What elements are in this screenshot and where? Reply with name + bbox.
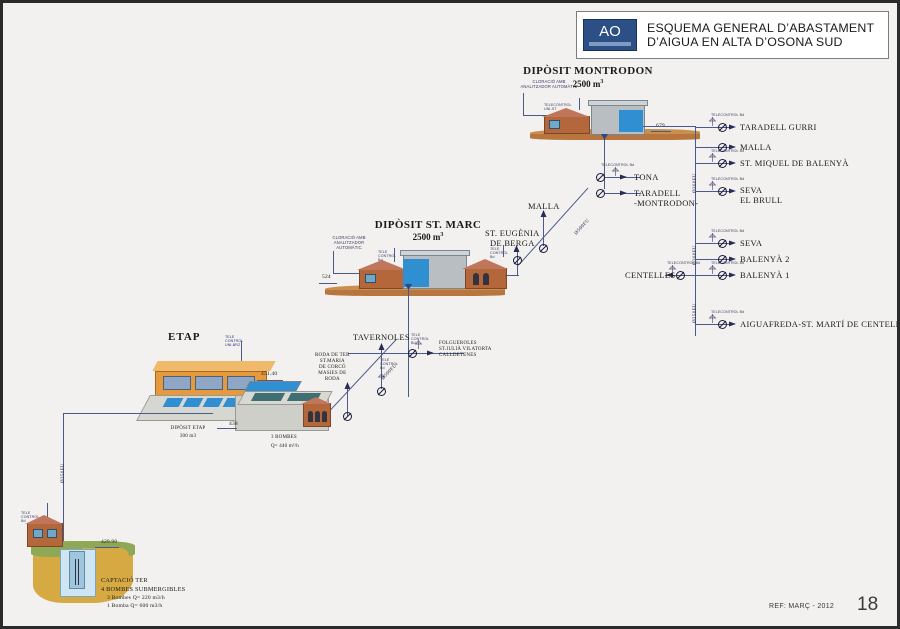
arrow-icon-taradell-montrodon <box>620 189 629 197</box>
montrodon-inlet-marker <box>600 131 609 140</box>
etap-pump-1 <box>308 411 313 422</box>
arrow-icon-aiguafreda <box>729 320 738 328</box>
etap-deposit-label: DIPÒSIT ETAP <box>153 426 223 432</box>
valve-icon-taradell-montrodon[interactable] <box>595 188 606 199</box>
stmarc-chlorination-label: CLORACIÓ AMB ANALITZADOR AUTOMÀTIC <box>319 235 379 250</box>
telecontrol-label-taradell-gurri: TELECONTROL Bd <box>711 113 744 117</box>
captacio-pumps-detail-1: 3 Bombes Q= 220 m3/h <box>107 595 165 601</box>
stmarc-downpipe <box>408 287 409 397</box>
stmarc-capacity-exp: 3 <box>440 232 443 238</box>
montrodon-tank-water <box>619 110 643 132</box>
destination-malla-mid: MALLA <box>528 201 560 211</box>
etap-pump-3 <box>322 411 327 422</box>
etap-elevation-high-line <box>257 380 283 381</box>
arrow-icon-taradell-gurri <box>729 123 738 131</box>
valve-icon-roda-de-ter[interactable] <box>342 411 353 422</box>
destination-tona: TONA <box>634 172 659 182</box>
pipe-label-montrodon-3: Ø250FU <box>693 303 698 323</box>
stmarc-ground <box>325 290 505 296</box>
etap-title: ETAP <box>168 331 201 343</box>
main-pipe-stmarc-montrodon <box>518 188 588 266</box>
telecontrol-icon-st-miquel <box>708 153 717 162</box>
destination-st-miquel: ST. MIQUEL DE BALENYÀ <box>740 158 849 168</box>
telecontrol-icon-taradell-gurri <box>708 117 717 126</box>
etap-elevation-low-line <box>217 428 237 429</box>
etap-elevation-low: 438 <box>229 421 238 427</box>
valve-icon-seva[interactable] <box>717 238 728 249</box>
arrow-icon-seva-elbrull <box>729 187 738 195</box>
etap-inlet-horizontal <box>63 413 213 414</box>
telecontrol-label-st-miquel: TELECONTROL Bd <box>711 149 744 153</box>
montrodon-chlorination-leader-v <box>523 93 524 116</box>
destination-aiguafreda: AIGUAFREDA-ST. MARTÍ DE CENTELLES <box>740 319 900 329</box>
valve-icon-balenya-1[interactable] <box>717 270 728 281</box>
valve-icon-aiguafreda[interactable] <box>717 319 728 330</box>
etap-roof <box>152 361 275 371</box>
arrow-icon-seva <box>729 239 738 247</box>
stmarc-elevation-line <box>319 283 337 284</box>
destination-centelles: CENTELLES <box>625 270 675 280</box>
telecontrol-icon-seva <box>708 233 717 242</box>
montrodon-outlet-pipe <box>643 126 695 127</box>
arrow-icon-st-miquel <box>729 159 738 167</box>
stmarc-roof-right <box>462 259 508 269</box>
telecontrol-icon-aiguafreda <box>708 314 717 323</box>
title-line-2: D’AIGUA EN ALTA D’OSONA SUD <box>647 35 874 50</box>
stmarc-control-panel <box>365 274 376 283</box>
telecontrol-label-aiguafreda: TELECONTROL Bd <box>711 310 744 314</box>
etap-pump-2 <box>315 411 320 422</box>
destination-balenya-1: BALENYÀ 1 <box>740 270 790 280</box>
footer-page-number: 18 <box>857 594 878 616</box>
telecontrol-icon-tona <box>611 167 620 176</box>
stmarc-pump-2 <box>483 273 489 285</box>
destination-tavernoles: TAVERNOLES <box>353 332 410 342</box>
captacio-pump-column <box>69 551 85 589</box>
montrodon-capacity-exp: 3 <box>600 79 603 85</box>
montrodon-chlorination-label: CLORACIÓ AMB ANALITZADOR AUTOMÀTIC <box>501 79 597 89</box>
schematic-page: AO ESQUEMA GENERAL D’ABASTAMENT D’AIGUA … <box>0 0 900 629</box>
stmarc-antenna-left <box>394 248 395 262</box>
valve-icon-taradell-gurri[interactable] <box>717 122 728 133</box>
etap-pumps-flow: Q= 440 m³/h <box>271 444 299 450</box>
stmarc-elevation: 524 <box>322 274 331 280</box>
stmarc-outlet-pipe <box>505 275 519 276</box>
stmarc-inlet-marker <box>404 281 413 290</box>
captacio-elevation-line <box>95 547 119 548</box>
destination-seva: SEVA <box>740 238 762 248</box>
stmarc-capacity-value: 2500 m <box>413 232 441 242</box>
arrow-icon-tona <box>620 173 629 181</box>
valve-icon-seva-elbrull[interactable] <box>717 186 728 197</box>
captacio-telecontrol-label: TELE CONTROL Bd <box>21 511 39 524</box>
telecontrol-label-seva: TELECONTROL Bd <box>711 229 744 233</box>
etap-deposit-water-1 <box>251 393 285 401</box>
telecontrol-label-folgueroles: TELE CONTROL Bd <box>411 333 429 346</box>
title-line-1: ESQUEMA GENERAL D’ABASTAMENT <box>647 21 874 36</box>
captacio-pump-rod-2 <box>78 559 79 585</box>
montrodon-tank-lid <box>588 100 648 106</box>
montrodon-antenna <box>579 98 580 110</box>
captacio-rising-main <box>63 413 64 561</box>
destination-roda-de-ter: RODA DE TER ST.MARIA DE CORCÓ MASIES DE … <box>315 353 350 383</box>
captacio-window-1 <box>33 529 43 538</box>
captacio-window-2 <box>47 529 57 538</box>
captacio-pumps-detail-2: 1 Bomba Q= 600 m3/h <box>107 603 162 609</box>
etap-pumps-label: 3 BOMBES <box>271 435 297 441</box>
diagram-title: ESQUEMA GENERAL D’ABASTAMENT D’AIGUA EN … <box>647 21 874 50</box>
valve-icon-tavernoles[interactable] <box>376 386 387 397</box>
etap-deposit-capacity: 300 m3 <box>153 434 223 440</box>
logo-underbar <box>589 42 631 46</box>
arrow-icon-balenya-1 <box>729 271 738 279</box>
destination-malla-right: MALLA <box>740 142 772 152</box>
telecontrol-label-balenya-1: TELECONTROL Bd <box>711 261 744 265</box>
valve-icon-st-miquel[interactable] <box>717 158 728 169</box>
telecontrol-label-seva-elbrull: TELECONTROL Bd <box>711 177 744 181</box>
pipe-label-captacio-etap: Ø350FU <box>61 463 66 483</box>
telecontrol-label-centelles: TELECONTROL Bd <box>667 261 700 265</box>
valve-icon-folgueroles[interactable] <box>407 348 418 359</box>
captacio-pump-rod-1 <box>75 559 76 585</box>
company-logo: AO <box>583 19 637 51</box>
montrodon-elevation-line <box>651 131 671 132</box>
stmarc-telecontrol2-label: TELE CONTROL Bd <box>490 247 508 260</box>
etap-pump-house-roof <box>301 397 331 404</box>
destination-folgueroles: FOLGUEROLES ST.JULIÀ VILATORTA CALLDETEN… <box>439 341 492 359</box>
logo-text: AO <box>599 25 621 39</box>
stmarc-title: DIPÒSIT ST. MARC <box>348 219 508 231</box>
telecontrol-icon-balenya-1 <box>708 265 717 274</box>
montrodon-telecontrol-label: TELECONTROL UNI-ST <box>544 103 572 111</box>
montrodon-control-panel <box>549 120 560 129</box>
montrodon-title: DIPÒSIT MONTRODON <box>508 65 668 77</box>
captacio-antenna <box>47 503 48 517</box>
captacio-pumps-count: 4 BOMBES SUBMERGIBLES <box>101 586 185 593</box>
etap-window-2 <box>195 376 223 390</box>
arrow-icon-st-eugenia <box>512 244 521 252</box>
etap-elevation-high: 451.40 <box>261 371 277 377</box>
branch-pipe-malla-mid <box>543 216 544 246</box>
stmarc-chlorination-leader-v <box>333 251 334 273</box>
destination-taradell-gurri: TARADELL GURRI <box>740 122 817 132</box>
footer-reference: REF: MARÇ - 2012 <box>769 603 834 610</box>
pipe-label-stmarc-montrodon: Ø500FU <box>574 218 591 236</box>
valve-icon-malla-mid[interactable] <box>538 243 549 254</box>
destination-balenya-2: BALENYÀ 2 <box>740 254 790 264</box>
valve-icon-tona[interactable] <box>595 172 606 183</box>
valve-icon-st-eugenia[interactable] <box>512 255 523 266</box>
stmarc-tank-lid <box>400 250 470 256</box>
etap-window-1 <box>163 376 191 390</box>
destination-taradell-montrodon: TARADELL -MONTRODON- <box>634 189 698 208</box>
stmarc-pump-1 <box>473 273 479 285</box>
telecontrol-icon-seva-elbrull <box>708 181 717 190</box>
telecontrol-label-tona: TELECONTROL Bd <box>601 163 634 167</box>
arrow-icon-folgueroles <box>427 349 436 357</box>
title-block: AO ESQUEMA GENERAL D’ABASTAMENT D’AIGUA … <box>576 11 889 59</box>
arrow-icon-tavernoles <box>377 342 386 350</box>
captacio-title: CAPTACIÓ TER <box>101 577 148 584</box>
captacio-elevation: 429.90 <box>101 539 117 545</box>
destination-seva-elbrull: SEVA EL BRULL <box>740 186 782 205</box>
etap-antenna <box>241 341 242 361</box>
